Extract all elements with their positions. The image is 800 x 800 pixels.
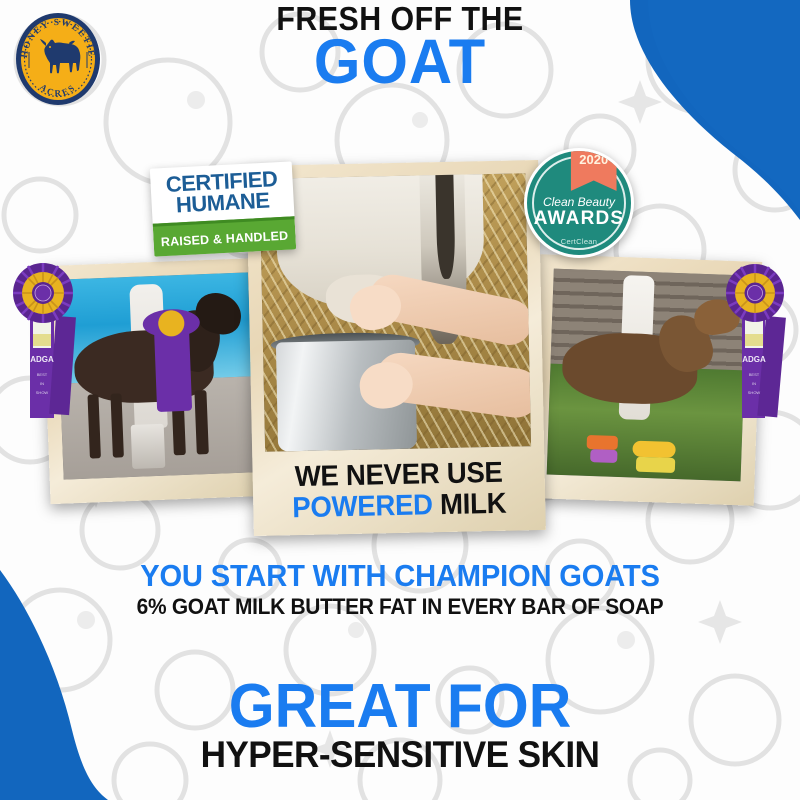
awards-footer: CertClean [527, 237, 631, 246]
bottom-text-line-2: HYPER-SENSITIVE SKIN [20, 736, 780, 775]
svg-text:SHOW: SHOW [748, 390, 761, 395]
rosette-right-label: ADGA [742, 355, 766, 364]
svg-text:IN: IN [40, 381, 44, 386]
promotional-poster: HONEY SWEETIE ACRES FRESH OFF THE GOAT [0, 0, 800, 800]
mid-text-block: YOU START WITH CHAMPION GOATS 6% GOAT MI… [0, 560, 800, 619]
bottom-text-block: GREAT FOR HYPER-SENSITIVE SKIN [0, 676, 800, 775]
caption-line-2: POWERED MILK [260, 488, 538, 524]
headline-line-2: GOAT [20, 33, 780, 93]
svg-text:BEST: BEST [749, 372, 760, 377]
center-photo-caption: WE NEVER USE POWERED MILK [252, 457, 545, 524]
humane-line-2: HUMANE [175, 190, 270, 216]
svg-text:SHOW: SHOW [36, 390, 49, 395]
awards-line-2: AWARDS [527, 208, 631, 230]
mid-text-line-1: YOU START WITH CHAMPION GOATS [24, 560, 776, 593]
caption-word-powered: POWERED [292, 489, 433, 524]
photo-center-image [259, 173, 531, 452]
rosette-left-label: ADGA [30, 355, 54, 364]
clean-beauty-awards-badge[interactable]: 2020 Clean Beauty AWARDS CertClean [524, 148, 634, 258]
svg-text:BEST: BEST [37, 372, 48, 377]
mid-text-line-2: 6% GOAT MILK BUTTER FAT IN EVERY BAR OF … [20, 595, 780, 619]
main-headline: FRESH OFF THE GOAT [0, 2, 800, 92]
bottom-text-line-1: GREAT FOR [20, 676, 780, 738]
svg-text:IN: IN [752, 381, 756, 386]
certified-humane-badge[interactable]: CERTIFIED HUMANE RAISED & HANDLED [150, 161, 296, 256]
rosette-ribbon-right: ADGA BESTINSHOW [724, 258, 798, 433]
rosette-ribbon-left: ADGA BESTINSHOW [6, 258, 84, 433]
awards-line-1: Clean Beauty [527, 195, 631, 209]
brand-logo[interactable]: HONEY SWEETIE ACRES [12, 10, 104, 108]
caption-word-milk: MILK [440, 487, 507, 520]
photo-right-image [547, 269, 748, 482]
photo-left-image [56, 272, 256, 479]
certified-humane-text: CERTIFIED HUMANE [150, 161, 295, 223]
